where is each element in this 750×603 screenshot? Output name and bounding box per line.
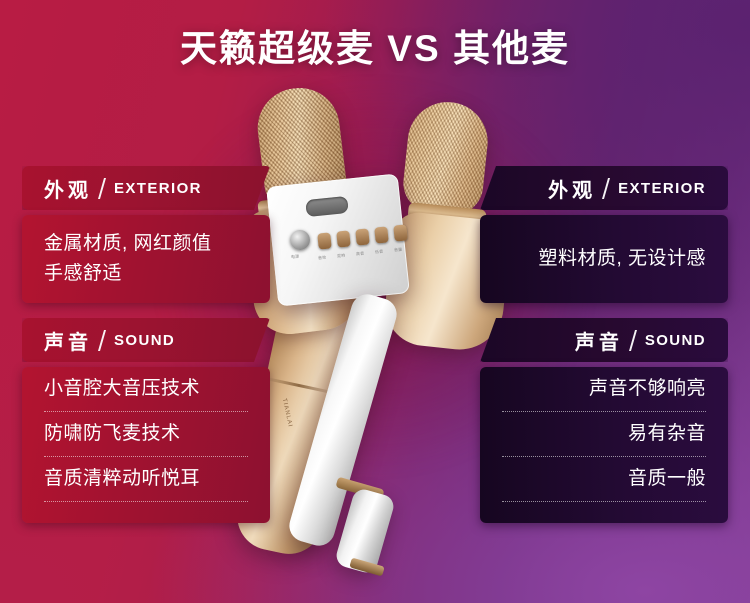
control-panel-button-1 bbox=[317, 232, 332, 249]
control-panel-button-4 bbox=[374, 226, 389, 243]
left-exterior-body: 金属材质, 网红颜值 手感舒适 bbox=[22, 215, 270, 303]
divider-slash-icon bbox=[629, 330, 637, 351]
left-sound-body: 小音腔大音压技术 防啸防飞麦技术 音质清粹动听悦耳 bbox=[22, 367, 270, 523]
left-exterior-line-2: 手感舒适 bbox=[44, 259, 248, 289]
right-sound-header: 声音 SOUND bbox=[480, 318, 728, 362]
competitor-mic-head bbox=[400, 98, 491, 218]
left-sound-title-en: SOUND bbox=[114, 332, 175, 349]
control-label-power: 电源 bbox=[291, 254, 300, 261]
right-exterior-title-cn: 外观 bbox=[548, 174, 596, 203]
control-label-reverb: 混响 bbox=[337, 253, 346, 260]
control-panel-button-2 bbox=[336, 230, 351, 247]
control-panel-button-3 bbox=[355, 228, 370, 245]
control-label-bass: 低音 bbox=[375, 249, 384, 256]
left-exterior-title-en: EXTERIOR bbox=[114, 180, 202, 197]
left-sound-panel: 声音 SOUND 小音腔大音压技术 防啸防飞麦技术 音质清粹动听悦耳 bbox=[22, 318, 270, 523]
control-label-volume: 音量 bbox=[394, 247, 403, 254]
left-exterior-panel: 外观 EXTERIOR 金属材质, 网红颜值 手感舒适 bbox=[22, 166, 270, 303]
left-sound-title-cn: 声音 bbox=[44, 326, 92, 355]
control-panel-button-5 bbox=[393, 224, 408, 241]
right-exterior-title-en: EXTERIOR bbox=[618, 180, 706, 197]
right-sound-item-2: 易有杂音 bbox=[502, 412, 706, 457]
infographic-canvas: 电源 音效 混响 高音 低音 音量 TIANLAI 天籁超级麦 VS 其他麦 外… bbox=[0, 0, 750, 603]
control-label-treble: 高音 bbox=[356, 251, 365, 258]
right-exterior-body: 塑料材质, 无设计感 bbox=[480, 215, 728, 303]
right-sound-title-en: SOUND bbox=[645, 332, 706, 349]
left-exterior-title-cn: 外观 bbox=[44, 174, 92, 203]
right-sound-item-1: 声音不够响亮 bbox=[502, 367, 706, 412]
right-sound-item-3: 音质一般 bbox=[502, 457, 706, 502]
divider-slash-icon bbox=[98, 178, 106, 199]
page-title: 天籁超级麦 VS 其他麦 bbox=[0, 18, 750, 72]
right-sound-panel: 声音 SOUND 声音不够响亮 易有杂音 音质一般 bbox=[480, 318, 728, 523]
right-sound-title-cn: 声音 bbox=[575, 326, 623, 355]
control-label-effect: 音效 bbox=[318, 255, 327, 262]
left-exterior-line-1: 金属材质, 网红颜值 bbox=[44, 229, 248, 259]
divider-slash-icon bbox=[98, 330, 106, 351]
left-sound-item-1: 小音腔大音压技术 bbox=[44, 367, 248, 412]
left-sound-item-2: 防啸防飞麦技术 bbox=[44, 412, 248, 457]
right-exterior-line-1: 塑料材质, 无设计感 bbox=[502, 244, 706, 274]
divider-slash-icon bbox=[602, 178, 610, 199]
right-exterior-panel: 外观 EXTERIOR 塑料材质, 无设计感 bbox=[480, 166, 728, 303]
right-exterior-header: 外观 EXTERIOR bbox=[480, 166, 728, 210]
left-sound-item-3: 音质清粹动听悦耳 bbox=[44, 457, 248, 502]
left-exterior-header: 外观 EXTERIOR bbox=[22, 166, 270, 210]
right-sound-body: 声音不够响亮 易有杂音 音质一般 bbox=[480, 367, 728, 523]
left-sound-header: 声音 SOUND bbox=[22, 318, 270, 362]
